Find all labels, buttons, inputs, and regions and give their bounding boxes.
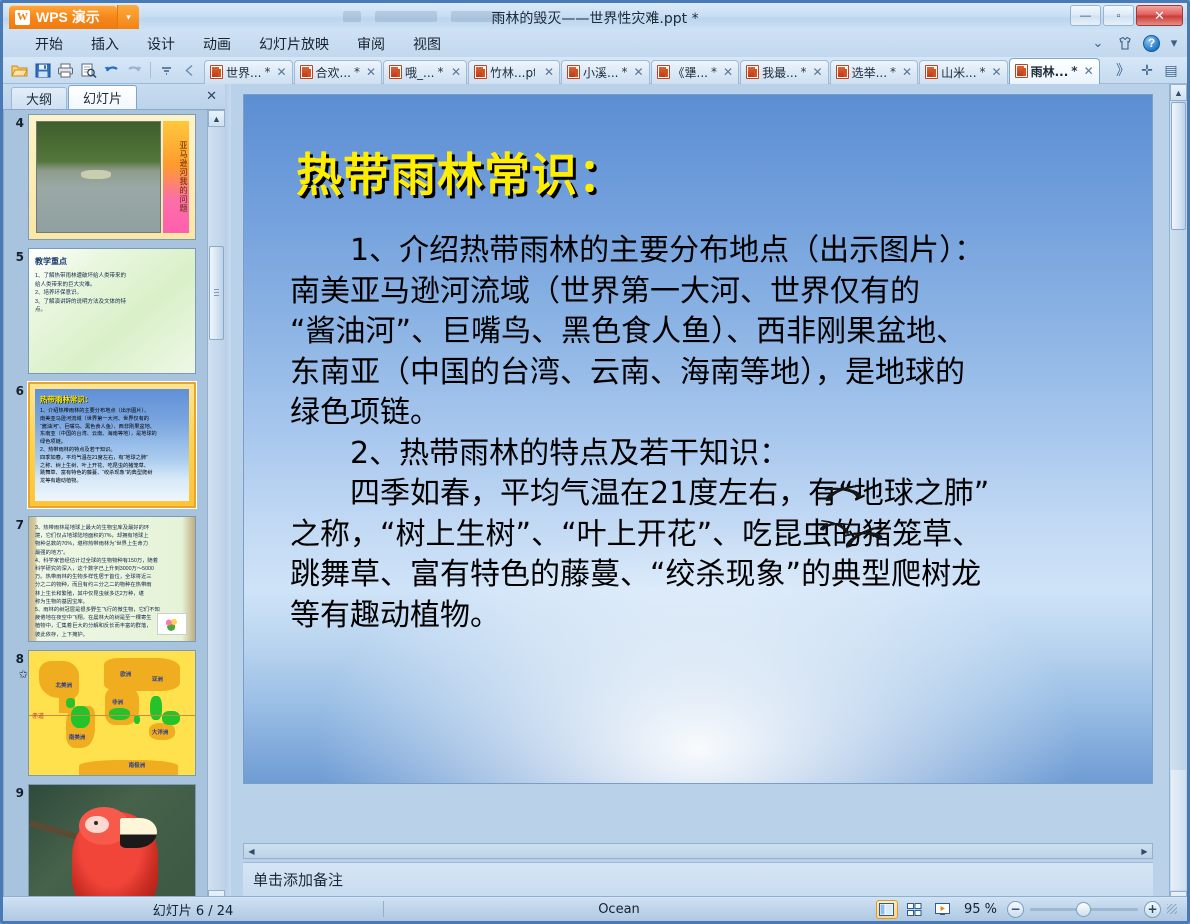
maximize-button[interactable]: ▫ [1103,5,1134,26]
doc-tab-close-icon[interactable]: ✕ [1081,64,1094,78]
zoom-level: 95 % [960,902,1001,917]
zoom-in-button[interactable]: + [1144,901,1161,918]
presentation-file-icon [657,65,670,79]
window-controls: — ▫ ✕ [1070,5,1183,26]
thumbnail-preview[interactable] [28,784,196,908]
title-bar: W WPS 演示 ▾ 雨林的毁灭——世界性灾难.ppt * — ▫ ✕ [3,3,1187,31]
skin-icon[interactable] [1116,34,1134,52]
map-label-africa: 非洲 [112,698,123,706]
ghost-chip-1 [343,11,361,22]
slide-line-2: 南美亚马逊河流域（世界第一大河、世界仅有的 [290,272,1130,313]
animation-indicator-icon: ✩ [10,666,28,681]
slide-line-7: 四季如春，平均气温在21度左右，有“地球之肺” [290,474,1130,515]
doc-tab-close-icon[interactable]: ✕ [810,65,823,79]
slide-line-1: 1、介绍热带雨林的主要分布地点（出示图片）： [290,231,1130,272]
doc-tab-label: 《犟... [673,64,708,81]
slide-line-8: 之称，“树上生树”、“叶上开花”、吃昆虫的猪笼草、 [290,515,1130,556]
doc-tab-9-active[interactable]: 雨林... * ✕ [1009,58,1100,84]
parrot-photo [29,785,195,908]
slide-title-text[interactable]: 热带雨林常识： [296,139,625,205]
doc-tab-close-icon[interactable]: ✕ [989,65,1002,79]
normal-view-icon[interactable] [876,900,898,919]
thumbnail-preview[interactable]: 赤道 北美洲 南美洲 欧洲 亚洲 非洲 大洋洲 南极洲 [28,650,196,776]
scroll-up-icon[interactable]: ▲ [208,110,225,127]
ghost-chip-2 [375,11,437,22]
title-bar-ghost-controls [343,11,501,22]
scroll-right-icon[interactable]: ▶ [1137,847,1152,856]
slide-line-6: 2、热带雨林的特点及若干知识： [290,434,1130,475]
new-tab-icon[interactable]: ✛ [1137,60,1157,80]
thumbnail-item-9[interactable]: 9 [10,784,207,908]
document-tab-strip: 世界... * ✕ 合欢... * ✕ 哦_... * ✕ 竹林...pt ✕ [204,57,1105,84]
doc-tab-7[interactable]: 选举... * ✕ [830,60,919,84]
doc-tab-5[interactable]: 《犟... * ✕ [651,60,740,84]
doc-tab-6[interactable]: 我最... * ✕ [740,60,829,84]
doc-tab-modified-marker: * [621,65,627,79]
wps-presentation-window: W WPS 演示 ▾ 雨林的毁灭——世界性灾难.ppt * — ▫ ✕ 开始 插… [0,0,1190,924]
doc-tab-2[interactable]: 哦_... * ✕ [383,60,467,84]
presentation-file-icon [300,65,313,79]
theme-name: Ocean [384,902,854,917]
presentation-file-icon [389,65,402,79]
scrollbar-track-lower[interactable] [1171,770,1186,890]
document-title: 雨林的毁灭——世界性灾难.ppt * [3,8,1187,28]
work-area: 大纲 幻灯片 ✕ 4 亚马逊河我的问题 [3,84,1187,908]
wps-logo-icon: W [15,10,30,25]
scroll-up-icon[interactable]: ▲ [1170,84,1187,101]
slideshow-icon[interactable] [932,900,954,919]
doc-tab-close-icon[interactable]: ✕ [273,65,286,79]
slide-line-10: 等有趣动植物。 [290,596,1130,637]
thumbnail-preview[interactable]: 亚马逊河我的问题 [28,114,196,240]
doc-tab-label: 山米... [941,64,976,81]
open-icon[interactable] [9,60,30,81]
minimize-button[interactable]: — [1070,5,1101,26]
thumbnail-title: 教学重点 [35,256,189,267]
menu-item-view[interactable]: 视图 [399,31,455,57]
chevron-down-icon[interactable]: ⌄ [1089,34,1107,52]
map-label-asia: 亚洲 [152,675,163,683]
map-label-oceania: 大洋洲 [152,728,169,736]
thumbnail-number: 4 [10,114,28,130]
slide-horizontal-scrollbar[interactable]: ◀ ▶ [243,843,1153,859]
presentation-file-icon [210,65,223,79]
close-button[interactable]: ✕ [1136,5,1183,26]
doc-tab-1[interactable]: 合欢... * ✕ [294,60,383,84]
menu-item-animation[interactable]: 动画 [189,31,245,57]
doc-tab-modified-marker: * [1071,64,1077,78]
doc-tab-label: 我最... [762,64,797,81]
presentation-file-icon [925,65,938,79]
scroll-tabs-right-icon[interactable]: 》 [1113,60,1133,80]
doc-tab-modified-marker: * [264,65,270,79]
navigator-tab-strip: 大纲 幻灯片 ✕ [3,84,225,109]
quick-access-toolbar: 世界... * ✕ 合欢... * ✕ 哦_... * ✕ 竹林...pt ✕ [3,57,1187,84]
doc-tab-close-icon[interactable]: ✕ [363,65,376,79]
presentation-file-icon [474,65,487,79]
map-label-antarctica: 南极洲 [129,761,146,769]
slide-line-3: “酱油河”、巨嘴鸟、黑色食人鱼）、西非刚果盆地、 [290,312,1130,353]
thumbnail-item-6-selected[interactable]: 6 热带雨林常识： 1、介绍热带雨林的主要分布地点（出示图片）、 南美亚马逊河流… [10,382,207,508]
tab-strip-controls: 》 ✛ ▤ [1107,60,1187,80]
close-navigator-icon[interactable]: ✕ [206,88,217,104]
zoom-slider-knob[interactable] [1076,902,1091,917]
doc-tab-8[interactable]: 山米... * ✕ [919,60,1008,84]
menu-bar: 开始 插入 设计 动画 幻灯片放映 审阅 视图 ⌄ ? ▾ [3,31,1187,57]
app-name-label: WPS 演示 [36,7,100,27]
doc-tab-close-icon[interactable]: ✕ [899,65,912,79]
doc-tab-modified-marker: * [890,65,896,79]
thumbnail-number: 8 [10,650,28,666]
scroll-left-icon[interactable]: ◀ [244,847,259,856]
thumbnail-number: 7 [10,516,28,532]
thumbnail-number: 9 [10,784,28,800]
slide-line-9: 跳舞草、富有特色的藤蔓、“绞杀现象”的典型爬树龙 [290,555,1130,596]
doc-tab-close-icon[interactable]: ✕ [448,65,461,79]
doc-tab-label: 小溪... [583,64,618,81]
thumbnail-body: 1、了解热带雨林遭破坏给人类带来的 给人类带来的巨大灾难。 2、培养环保意识。 … [35,272,189,315]
redo-icon[interactable] [124,60,145,81]
presentation-file-icon [1015,64,1028,78]
thumbnail-preview[interactable]: 教学重点 1、了解热带雨林遭破坏给人类带来的 给人类带来的巨大灾难。 2、培养环… [28,248,196,374]
undo-icon[interactable] [101,60,122,81]
doc-tab-modified-marker: * [980,65,986,79]
help-icon[interactable]: ? [1143,35,1160,52]
app-menu-caret-icon[interactable]: ▾ [117,5,139,29]
print-preview-icon[interactable] [78,60,99,81]
thumbnail-preview[interactable]: 3、热带雨林是地球上最大的生物宝库及最好的环 境，它们仅占地球陆地面积的7%，却… [28,516,196,642]
window-list-icon[interactable]: ▤ [1161,60,1181,80]
scrollbar-thumb[interactable] [209,246,224,340]
slide-canvas-wrapper: 热带雨林常识： 1、介绍热带雨林的主要分布地点（出示图片）： 南美亚马逊河流域（… [231,84,1169,839]
slide-line-5: 绿色项链。 [290,393,1130,434]
menu-item-review[interactable]: 审阅 [343,31,399,57]
menu-item-slideshow[interactable]: 幻灯片放映 [245,31,343,57]
menu-item-home[interactable]: 开始 [21,31,77,57]
doc-tab-label: 世界... [226,64,261,81]
slide-navigator-pane: 大纲 幻灯片 ✕ 4 亚马逊河我的问题 [3,84,225,908]
more-options-icon[interactable]: ▾ [1169,34,1179,52]
thumbnail-item-7[interactable]: 7 3、热带雨林是地球上最大的生物宝库及最好的环 境，它们仅占地球陆地面积的7%… [10,516,207,642]
doc-tab-label: 竹林...pt [490,64,535,81]
thumbnail-sidebar-text: 亚马逊河我的问题 [163,121,189,233]
thumbnail-item-4[interactable]: 4 亚马逊河我的问题 [10,114,207,240]
map-label-north-america: 北美洲 [56,681,73,689]
doc-tab-modified-marker: * [711,65,717,79]
river-forest-photo [36,121,161,233]
slide-editor-area: 热带雨林常识： 1、介绍热带雨林的主要分布地点（出示图片）： 南美亚马逊河流域（… [231,84,1169,908]
map-label-europe: 欧洲 [120,670,131,678]
map-label-equator: 赤道 [32,711,44,720]
scrollbar-thumb[interactable] [1171,102,1186,230]
status-bar-right: 95 % − + [876,900,1187,919]
thumbnail-item-5[interactable]: 5 教学重点 1、了解热带雨林遭破坏给人类带来的 给人类带来的巨大灾难。 2、培… [10,248,207,374]
flower-image [157,613,187,635]
zoom-slider[interactable] [1030,908,1138,911]
menu-bar-right-tools: ⌄ ? ▾ [1089,34,1179,52]
doc-tab-close-icon[interactable]: ✕ [630,65,643,79]
slide-canvas[interactable]: 热带雨林常识： 1、介绍热带雨林的主要分布地点（出示图片）： 南美亚马逊河流域（… [243,94,1153,784]
equator-line [29,715,195,716]
menu-item-insert[interactable]: 插入 [77,31,133,57]
status-bar: 幻灯片 6 / 24 Ocean 95 % − + [3,896,1187,921]
doc-tab-label: 选举... [852,64,887,81]
thumbnail-preview[interactable]: 热带雨林常识： 1、介绍热带雨林的主要分布地点（出示图片）、 南美亚马逊河流域（… [28,382,196,508]
save-icon[interactable] [32,60,53,81]
collapse-left-icon[interactable] [179,60,200,81]
ghost-chip-3 [451,11,501,22]
doc-tab-label: 雨林... [1031,63,1069,80]
thumbnail-title: 热带雨林常识： [40,394,184,405]
slide-sorter-icon[interactable] [904,900,926,919]
tab-outline[interactable]: 大纲 [11,87,67,109]
menu-item-design[interactable]: 设计 [133,31,189,57]
presentation-file-icon [836,65,849,79]
presentation-file-icon [567,65,580,79]
doc-tab-modified-marker: * [354,65,360,79]
slide-thumbnail-list[interactable]: 4 亚马逊河我的问题 5 教学重点 [3,109,225,908]
map-label-south-america: 南美洲 [69,733,86,741]
tab-slides[interactable]: 幻灯片 [68,85,137,109]
toolbar-separator [150,62,151,78]
doc-tab-label: 哦_... [405,64,434,81]
slide-counter: 幻灯片 6 / 24 [3,900,383,919]
presentation-file-icon [746,65,759,79]
doc-tab-close-icon[interactable]: ✕ [541,65,554,79]
doc-tab-4[interactable]: 小溪... * ✕ [561,60,650,84]
slide-body-text[interactable]: 1、介绍热带雨林的主要分布地点（出示图片）： 南美亚马逊河流域（世界第一大河、世… [290,231,1130,636]
customize-icon[interactable] [156,60,177,81]
wps-app-button[interactable]: W WPS 演示 [9,5,117,29]
doc-tab-3[interactable]: 竹林...pt ✕ [468,60,560,84]
thumbnail-item-8[interactable]: 8 ✩ [10,650,207,776]
doc-tab-modified-marker: * [437,65,443,79]
doc-tab-0[interactable]: 世界... * ✕ [204,60,293,84]
main-vertical-scrollbar[interactable]: ▲ ▼ [1169,84,1187,908]
slide-line-4: 东南亚（中国的台湾、云南、海南等地），是地球的 [290,353,1130,394]
resize-grip-icon[interactable] [1167,904,1177,914]
thumbnail-number: 5 [10,248,28,264]
print-icon[interactable] [55,60,76,81]
thumbnail-number: 6 [10,382,28,398]
doc-tab-close-icon[interactable]: ✕ [720,65,733,79]
thumbnail-body: 1、介绍热带雨林的主要分布地点（出示图片）、 南美亚马逊河流域（世界第一大河、世… [40,408,184,486]
thumbnail-scrollbar[interactable]: ▲ ▼ [207,110,225,907]
doc-tab-label: 合欢... [316,64,351,81]
doc-tab-modified-marker: * [801,65,807,79]
zoom-out-button[interactable]: − [1007,901,1024,918]
